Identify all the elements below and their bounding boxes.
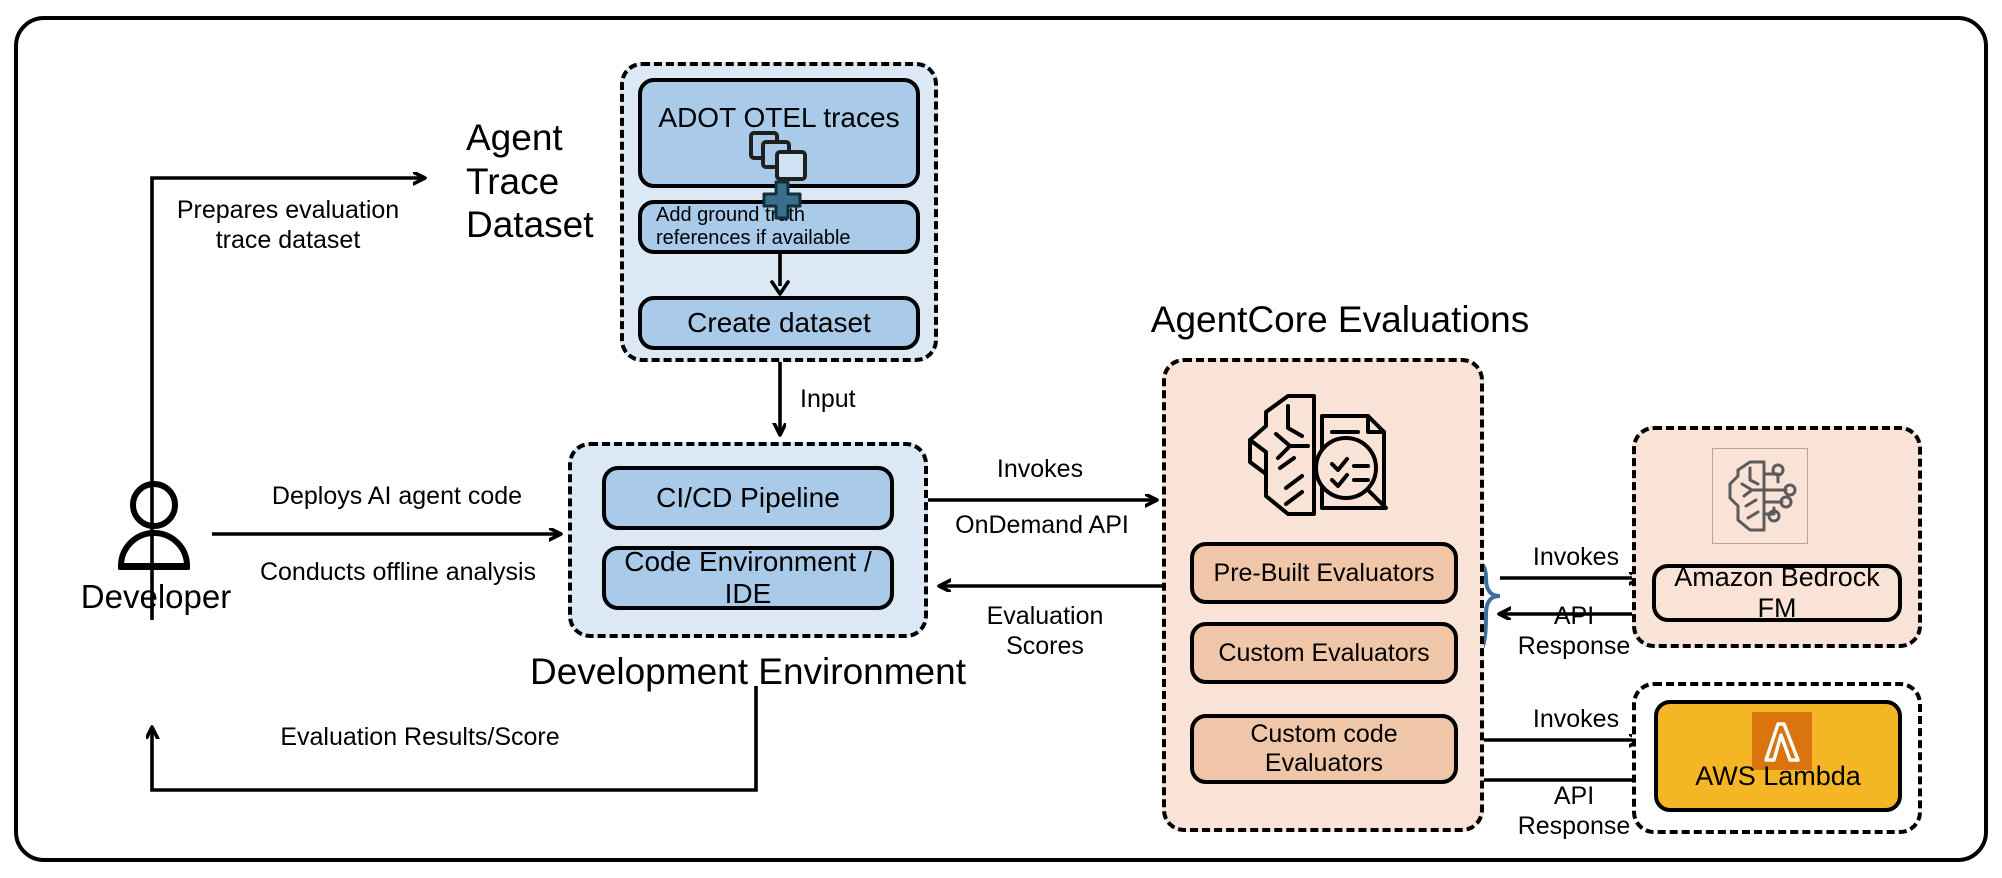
agentcore-evaluations-title: AgentCore Evaluations	[1100, 298, 1580, 342]
cicd-pipeline-label: CI/CD Pipeline	[656, 482, 840, 514]
edge-label-ondemand-api: OnDemand API	[922, 511, 1162, 541]
bedrock-brain-chip-icon	[1722, 458, 1798, 534]
agent-trace-dataset-title: Agent Trace Dataset	[466, 116, 606, 247]
edge-label-lambda-api-response: API Response	[1494, 782, 1654, 841]
cicd-pipeline-node[interactable]: CI/CD Pipeline	[602, 466, 894, 530]
pre-built-evaluators-node[interactable]: Pre-Built Evaluators	[1190, 542, 1458, 604]
create-dataset-node[interactable]: Create dataset	[638, 296, 920, 350]
custom-code-evaluators-node[interactable]: Custom code Evaluators	[1190, 714, 1458, 784]
edge-label-invokes-bedrock: Invokes	[1506, 543, 1646, 573]
stacked-traces-icon	[748, 130, 810, 182]
pre-built-evaluators-label: Pre-Built Evaluators	[1214, 559, 1435, 588]
plus-icon	[762, 180, 802, 220]
amazon-bedrock-fm-node[interactable]: Amazon Bedrock FM	[1652, 564, 1902, 622]
create-dataset-label: Create dataset	[687, 307, 871, 339]
edge-label-evaluation-results-score: Evaluation Results/Score	[230, 723, 610, 753]
code-environment-ide-node[interactable]: Code Environment / IDE	[602, 546, 894, 610]
aws-lambda-node[interactable]: AWS Lambda	[1654, 700, 1902, 812]
brain-document-magnifier-icon	[1228, 392, 1404, 518]
amazon-bedrock-fm-label: Amazon Bedrock FM	[1656, 562, 1898, 624]
development-environment-title: Development Environment	[528, 650, 968, 694]
code-environment-ide-label: Code Environment / IDE	[606, 546, 890, 610]
aws-lambda-label: AWS Lambda	[1658, 761, 1898, 792]
custom-code-evaluators-label: Custom code Evaluators	[1250, 720, 1397, 778]
edge-label-evaluation-scores: Evaluation Scores	[950, 602, 1140, 661]
diagram-canvas: Developer Agent Trace Dataset ADOT OTEL …	[0, 0, 2002, 878]
person-icon	[118, 480, 190, 570]
edge-label-input: Input	[800, 385, 920, 415]
edge-label-invokes-lambda: Invokes	[1506, 705, 1646, 735]
custom-evaluators-node[interactable]: Custom Evaluators	[1190, 622, 1458, 684]
edge-label-bedrock-api-response: API Response	[1494, 602, 1654, 661]
edge-label-conducts-offline-analysis: Conducts offline analysis	[240, 558, 556, 588]
ground-truth-to-create-arrow	[762, 254, 798, 298]
edge-label-invokes-ondemand: Invokes	[940, 455, 1140, 485]
edge-label-prepares-dataset: Prepares evaluation trace dataset	[168, 196, 408, 255]
custom-evaluators-label: Custom Evaluators	[1218, 639, 1429, 668]
edge-label-deploys-agent-code: Deploys AI agent code	[252, 482, 542, 512]
